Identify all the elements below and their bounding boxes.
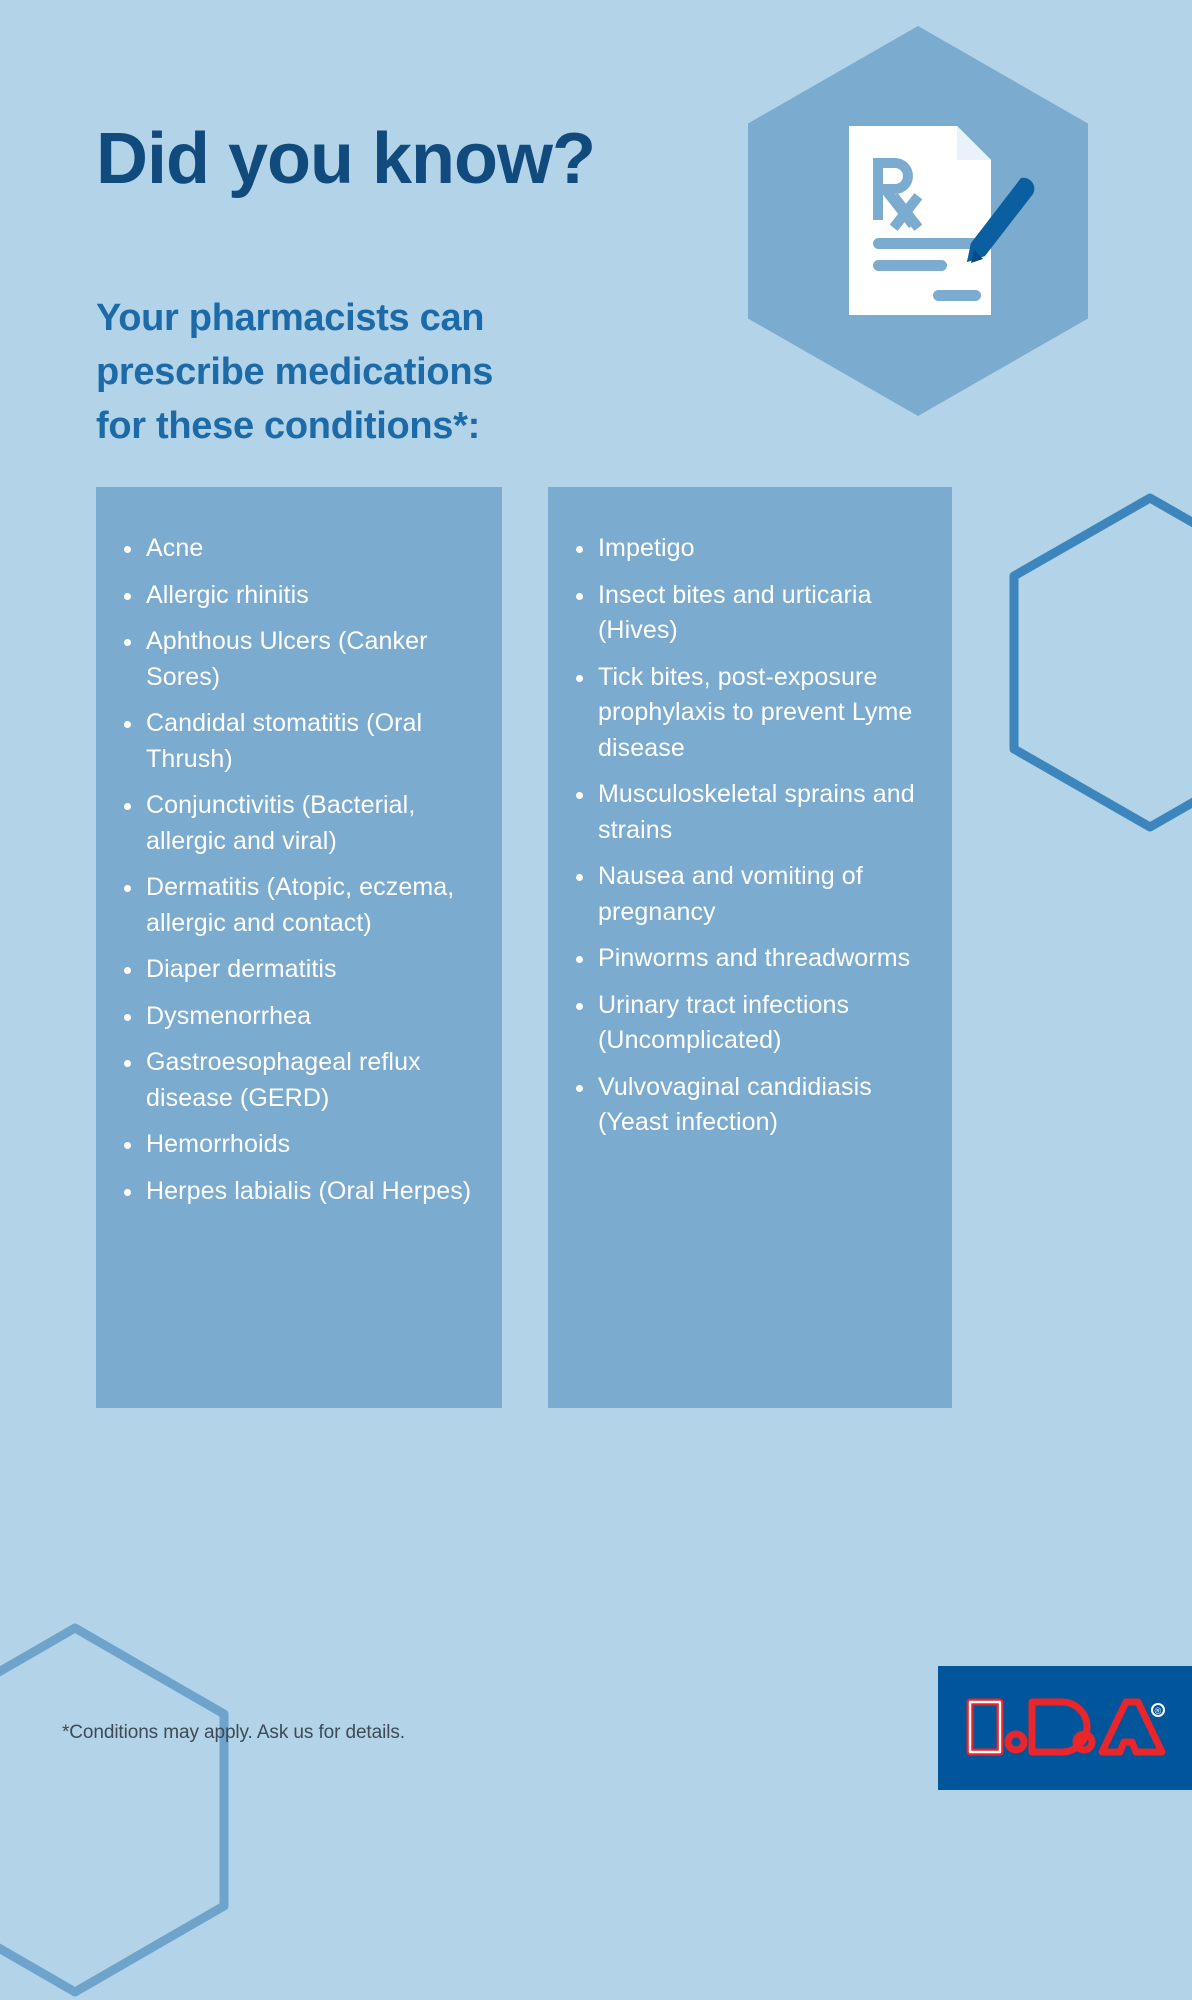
registered-mark: ® <box>1155 1706 1162 1716</box>
conditions-list-right: ImpetigoInsect bites and urticaria (Hive… <box>548 487 952 1141</box>
conditions-list-left: AcneAllergic rhinitisAphthous Ulcers (Ca… <box>96 487 502 1209</box>
condition-item: Gastroesophageal reflux disease (GERD) <box>120 1045 484 1116</box>
hexagon-outline-shape-right <box>1000 490 1192 835</box>
condition-item: Pinworms and threadworms <box>572 941 934 977</box>
subtitle-line-2: prescribe medications <box>96 346 493 400</box>
subtitle-line-3: for these conditions*: <box>96 400 493 454</box>
condition-item: Urinary tract infections (Uncomplicated) <box>572 988 934 1059</box>
footnote-text: *Conditions may apply. Ask us for detail… <box>62 1722 405 1744</box>
condition-item: Acne <box>120 531 484 567</box>
page-subtitle: Your pharmacists can prescribe medicatio… <box>96 292 493 454</box>
condition-item: Allergic rhinitis <box>120 578 484 614</box>
page-title: Did you know? <box>96 122 595 198</box>
condition-item: Dermatitis (Atopic, eczema, allergic and… <box>120 870 484 941</box>
condition-item: Dysmenorrhea <box>120 999 484 1035</box>
condition-item: Diaper dermatitis <box>120 952 484 988</box>
conditions-panel-right: ImpetigoInsect bites and urticaria (Hive… <box>548 487 952 1408</box>
conditions-panel-left: AcneAllergic rhinitisAphthous Ulcers (Ca… <box>96 487 502 1408</box>
condition-item: Insect bites and urticaria (Hives) <box>572 578 934 649</box>
ida-logo-mark: ® <box>962 1694 1172 1760</box>
hexagon-outline-shape-bottomleft <box>0 1620 240 2000</box>
prescription-rx-icon <box>845 120 1035 325</box>
condition-item: Conjunctivitis (Bacterial, allergic and … <box>120 788 484 859</box>
ida-logo: ® <box>938 1666 1192 1790</box>
condition-item: Impetigo <box>572 531 934 567</box>
condition-item: Hemorrhoids <box>120 1127 484 1163</box>
condition-item: Tick bites, post-exposure prophylaxis to… <box>572 660 934 767</box>
condition-item: Aphthous Ulcers (Canker Sores) <box>120 624 484 695</box>
condition-item: Vulvovaginal candidiasis (Yeast infectio… <box>572 1070 934 1141</box>
subtitle-line-1: Your pharmacists can <box>96 292 493 346</box>
condition-item: Nausea and vomiting of pregnancy <box>572 859 934 930</box>
condition-item: Musculoskeletal sprains and strains <box>572 777 934 848</box>
condition-item: Candidal stomatitis (Oral Thrush) <box>120 706 484 777</box>
condition-item: Herpes labialis (Oral Herpes) <box>120 1174 484 1210</box>
